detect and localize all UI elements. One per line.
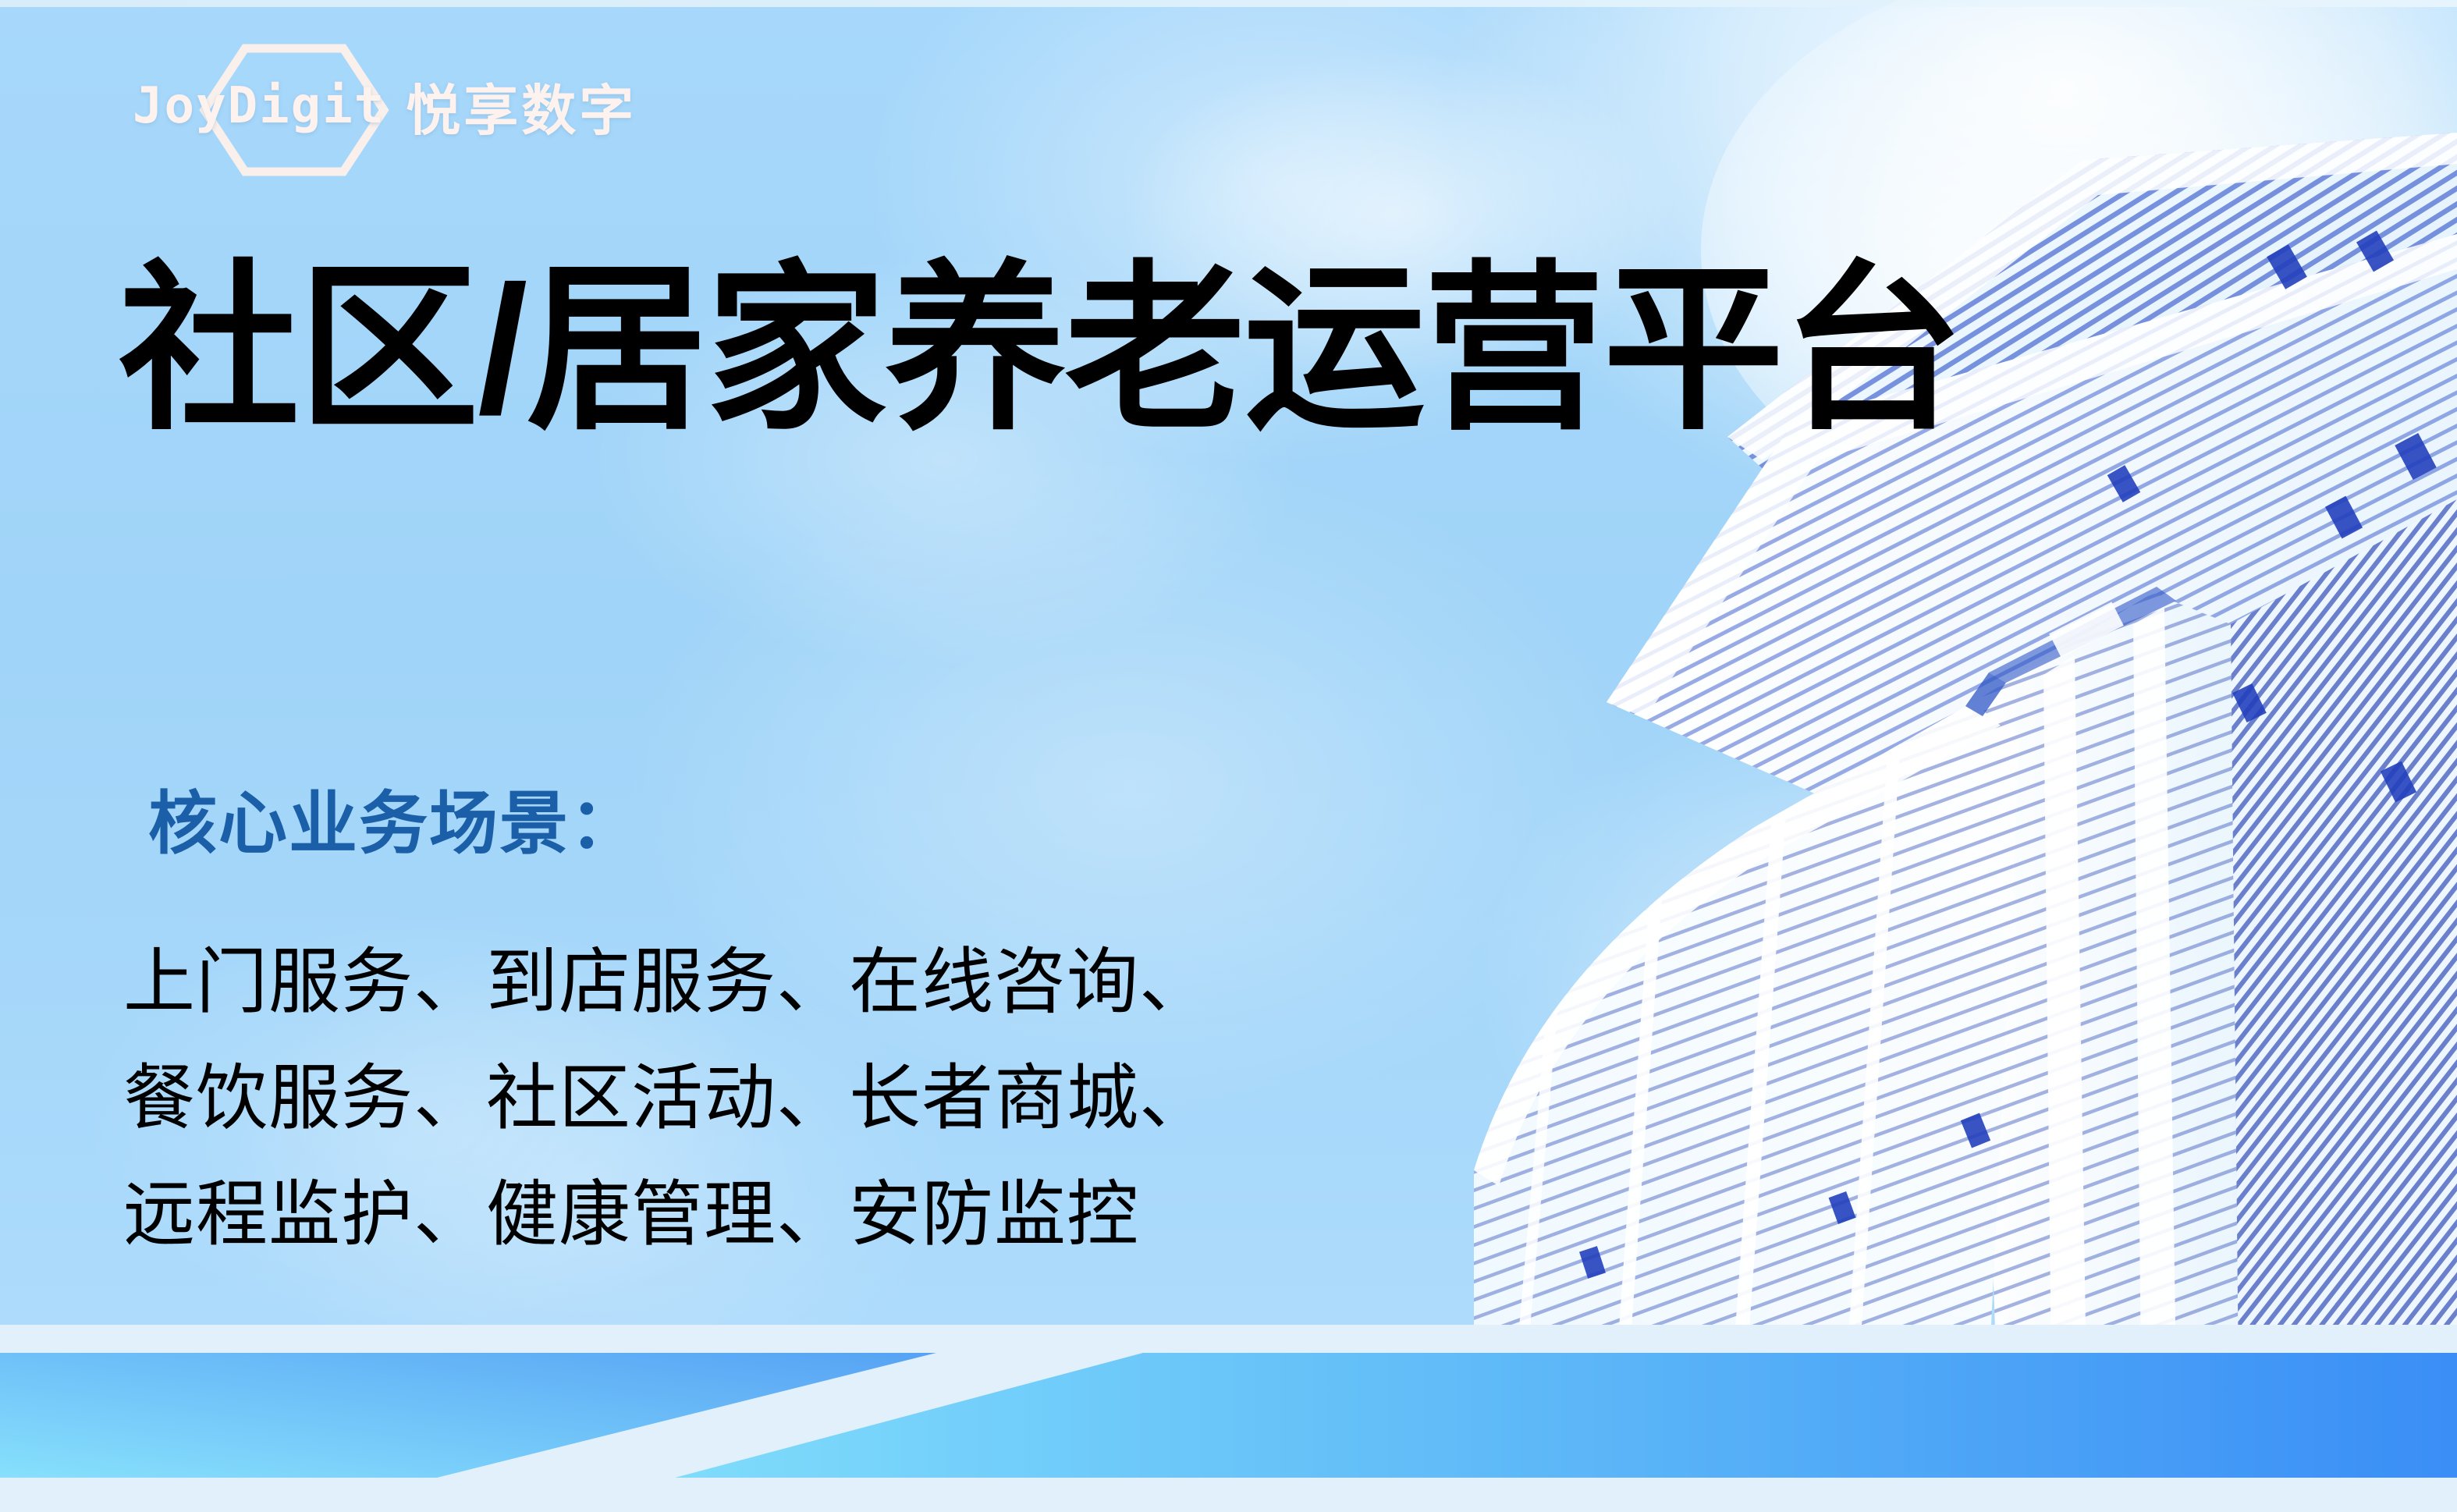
skyscraper-photo [1427, 0, 2457, 1373]
logo-wordmark: JoyDigit [133, 77, 385, 135]
slide-root: JoyDigit 悦享数字 社区/居家养老运营平台 核心业务场景： 上门服务、到… [0, 0, 2457, 1512]
scenario-line: 远程监护、健康管理、安防监控 [123, 1157, 1212, 1273]
section-heading: 核心业务场景： [148, 768, 640, 868]
scenario-line: 餐饮服务、社区活动、长者商城、 [123, 1041, 1212, 1157]
logo-chinese-name: 悦享数字 [406, 67, 637, 146]
scenario-line: 上门服务、到店服务、在线咨询、 [123, 925, 1212, 1041]
page-title: 社区/居家养老运营平台 [119, 254, 1962, 446]
bottom-ribbon [0, 1325, 2457, 1512]
brand-logo: JoyDigit 悦享数字 [133, 69, 637, 144]
scenario-list: 上门服务、到店服务、在线咨询、 餐饮服务、社区活动、长者商城、 远程监护、健康管… [123, 925, 1212, 1273]
